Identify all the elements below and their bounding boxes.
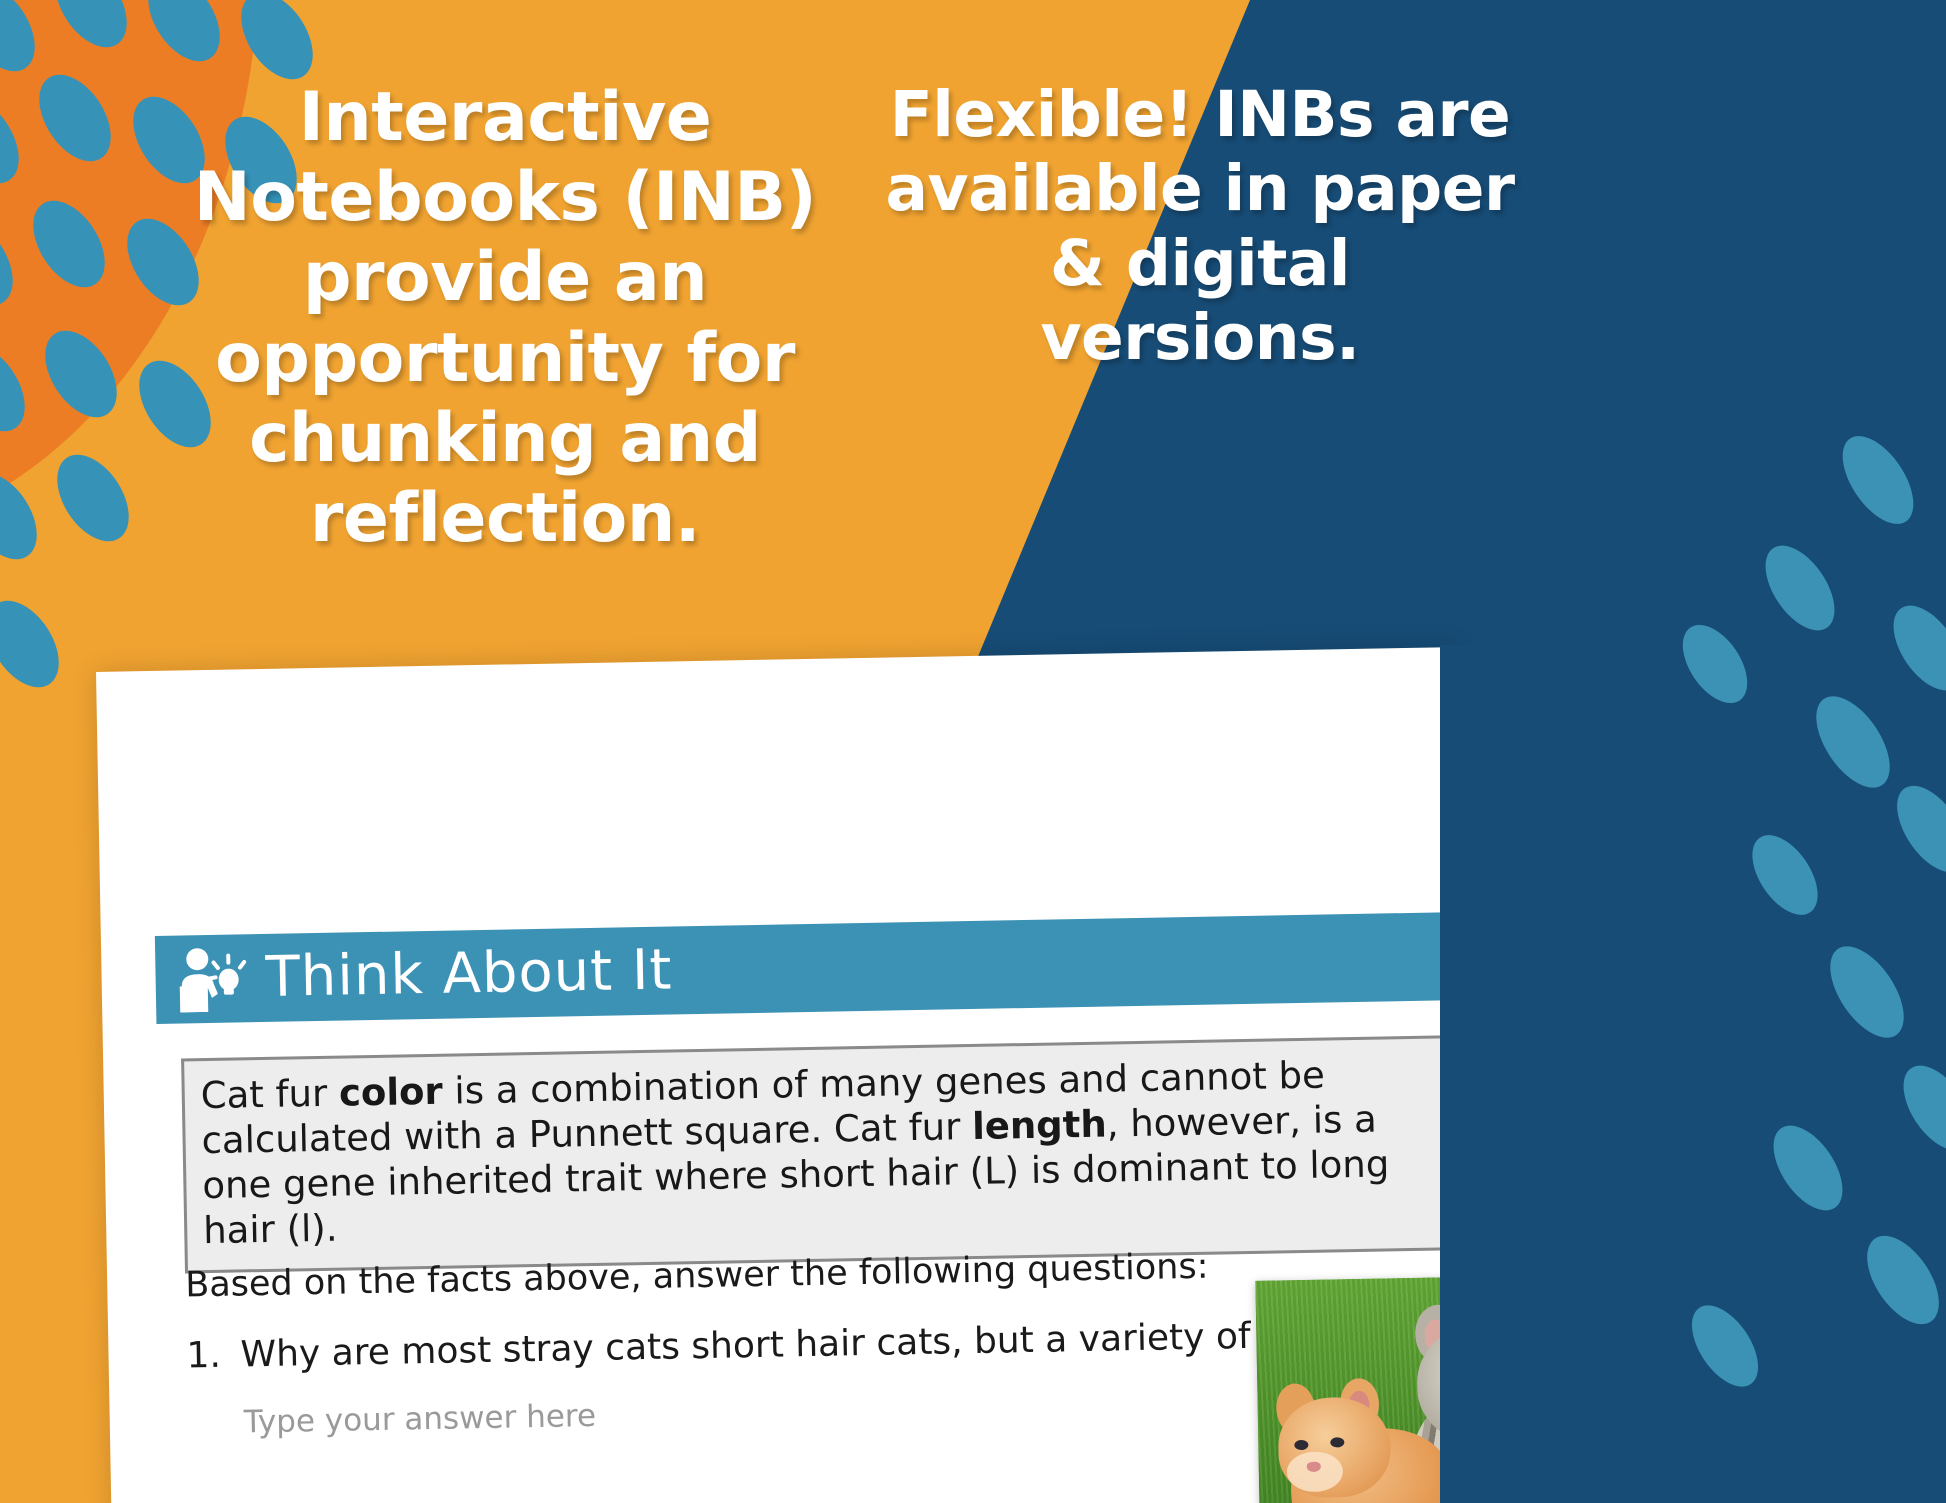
worksheet-document: Think About It Cat fur color is a combin…	[96, 647, 1472, 1503]
person-with-lightbulb-icon	[177, 945, 252, 1012]
think-about-it-banner: Think About It	[155, 912, 1476, 1024]
answer-input-1[interactable]: Type your answer here	[243, 1398, 596, 1440]
fact-line2-a: Punnett square. Cat fur	[528, 1105, 972, 1156]
question-text: Why are most stray cats short hair cats,…	[240, 1313, 1389, 1375]
fact-bold-length: length	[972, 1103, 1107, 1148]
banner-title: Think About It	[265, 942, 673, 1005]
fact-line1-a: Cat fur	[200, 1072, 339, 1118]
fact-bold-color: color	[339, 1070, 443, 1115]
slide-canvas: Think About It Cat fur color is a combin…	[0, 0, 1946, 1503]
headline-left: Interactive Notebooks (INB) provide an o…	[110, 78, 900, 559]
question-number: 1.	[186, 1334, 241, 1376]
headline-right: Flexible! INBs are available in paper & …	[880, 78, 1520, 375]
question-item-1: 1.Why are most stray cats short hair cat…	[186, 1313, 1389, 1376]
fact-text-box: Cat fur color is a combination of many g…	[181, 1035, 1475, 1273]
